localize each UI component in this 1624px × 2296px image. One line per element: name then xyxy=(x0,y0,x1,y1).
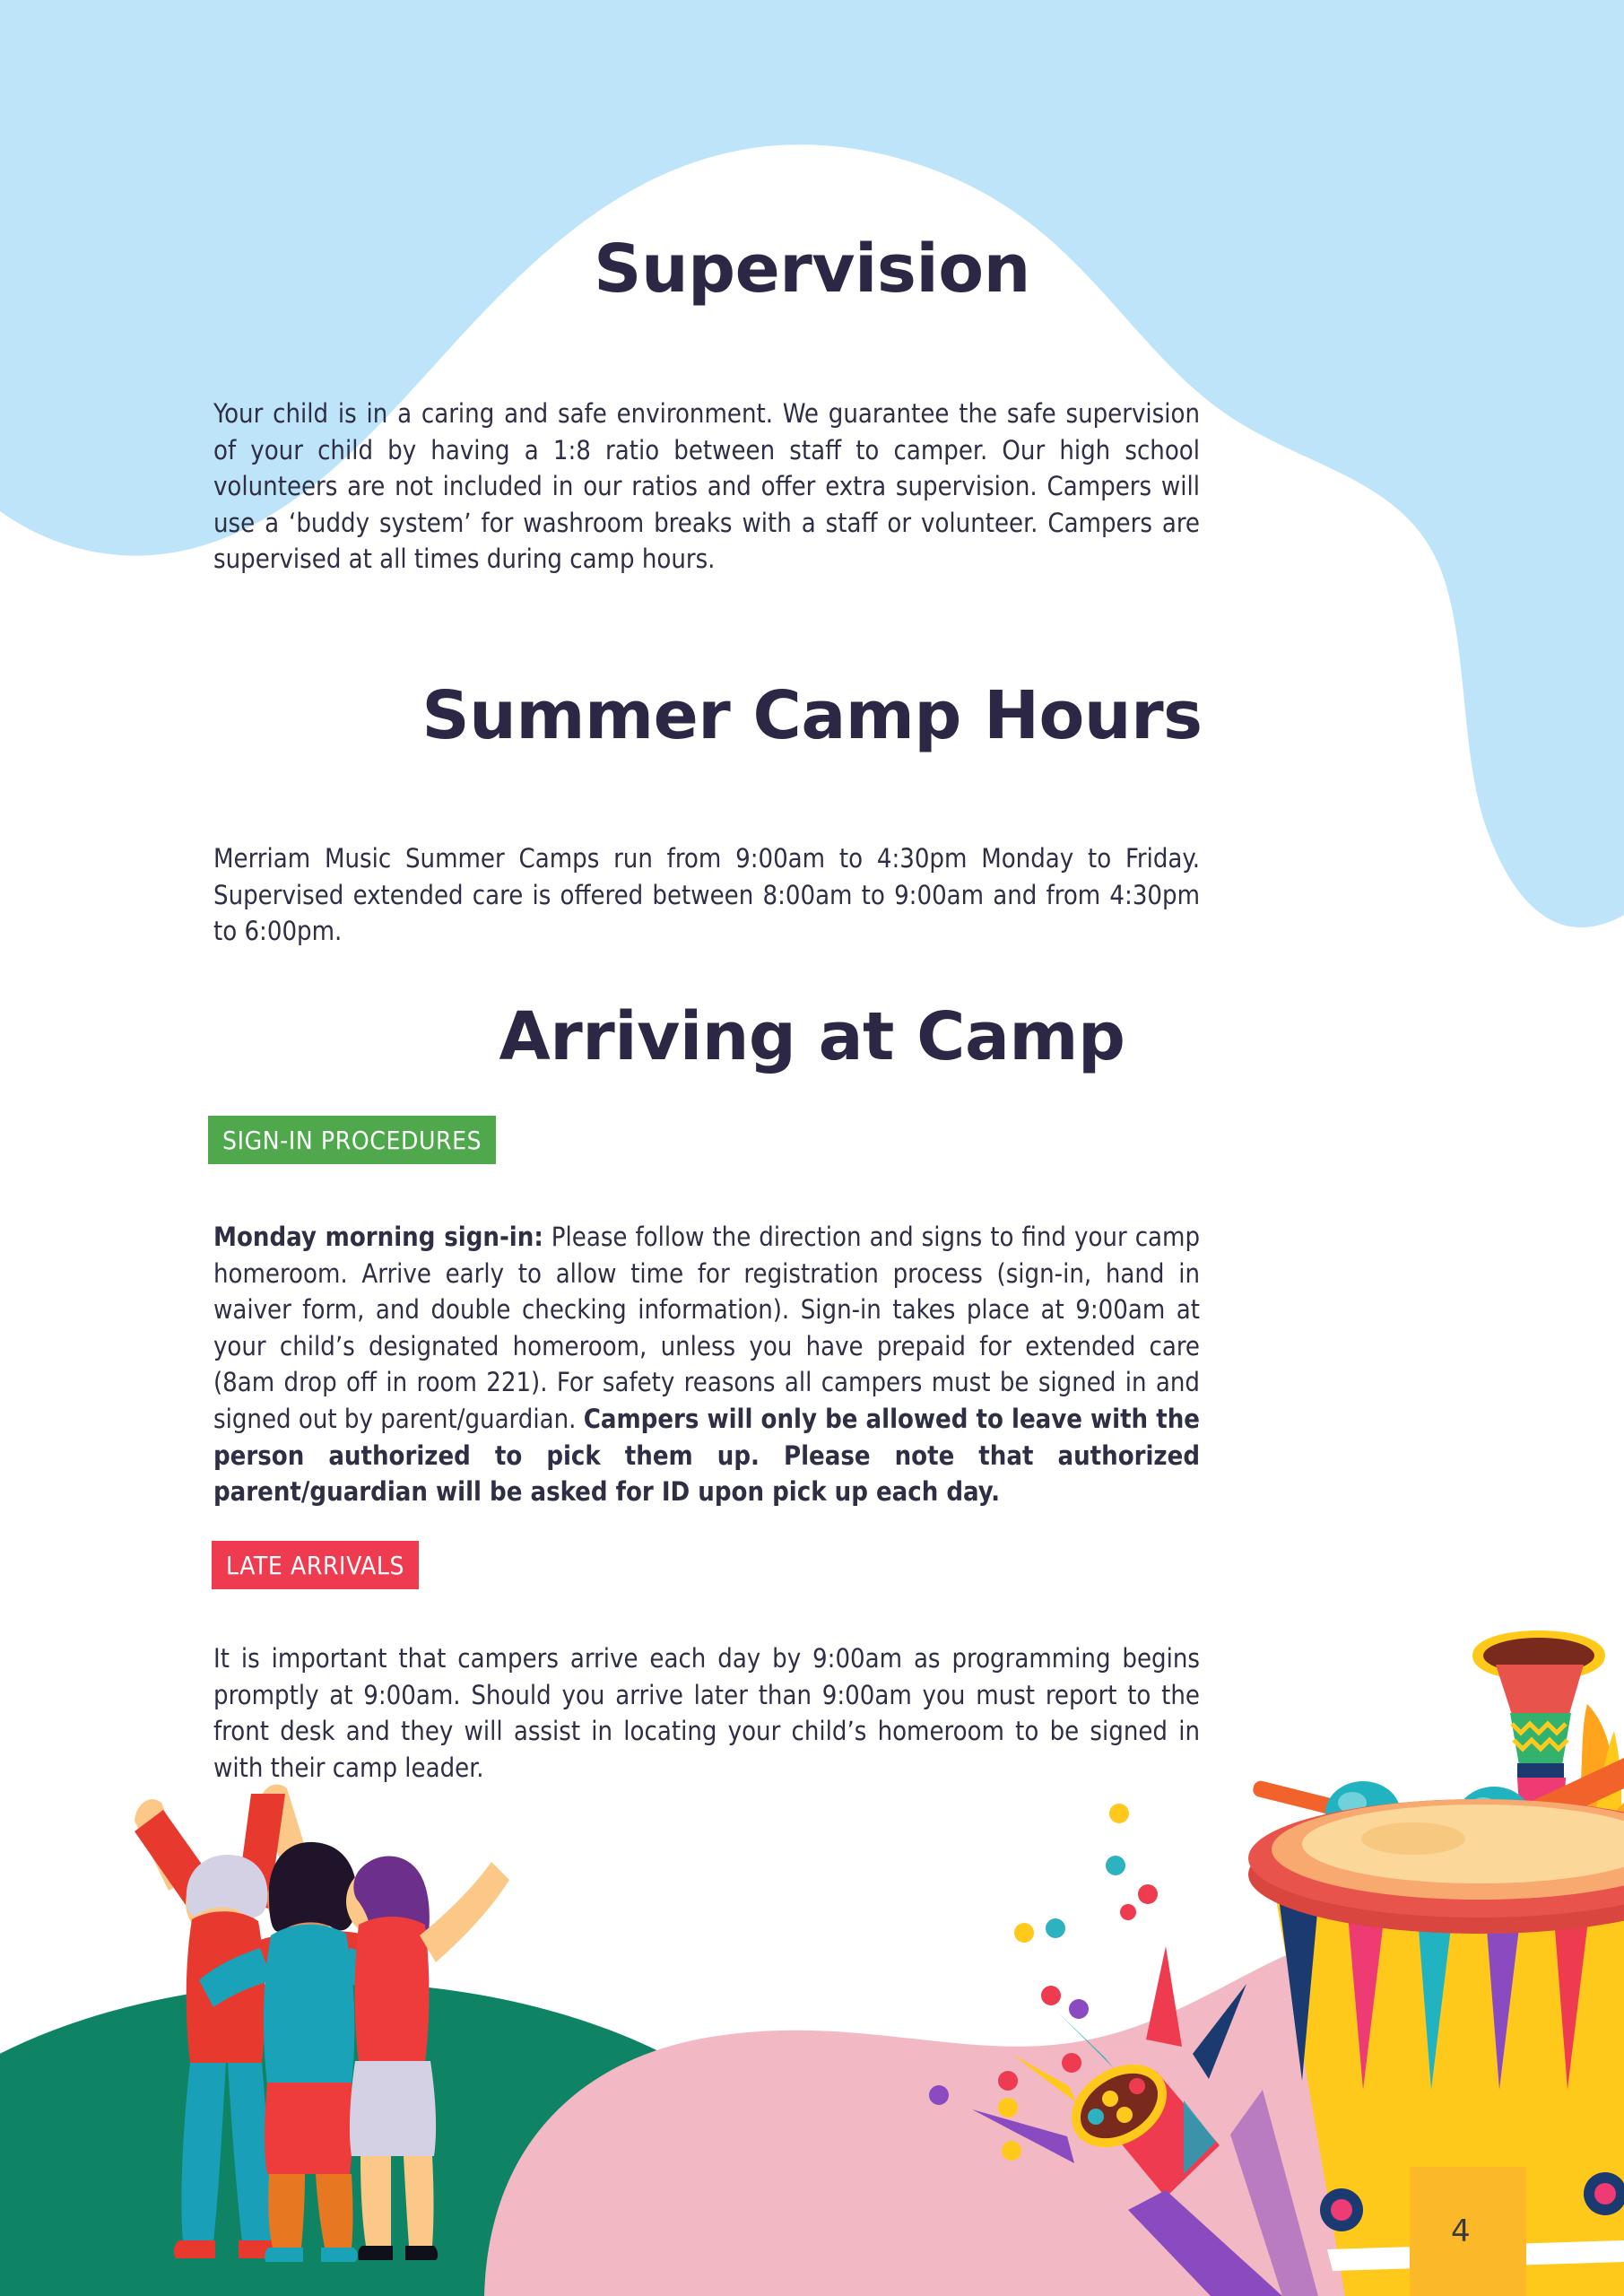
section-title-arriving-at-camp: Arriving at Camp xyxy=(0,1003,1624,1073)
sign-in-lead-bold: Monday morning sign-in: xyxy=(213,1222,543,1252)
section-title-summer-camp-hours: Summer Camp Hours xyxy=(0,682,1624,752)
sign-in-regular-text: Please follow the direction and signs to… xyxy=(213,1222,1200,1434)
document-page: Supervision Your child is in a caring an… xyxy=(0,0,1624,2296)
badge-sign-in-procedures-label: SIGN-IN PROCEDURES xyxy=(222,1126,482,1155)
badge-sign-in-procedures: SIGN-IN PROCEDURES xyxy=(208,1116,496,1164)
late-arrivals-paragraph: It is important that campers arrive each… xyxy=(213,1640,1200,1786)
page-content: Supervision Your child is in a caring an… xyxy=(0,0,1624,2296)
badge-late-arrivals: LATE ARRIVALS xyxy=(212,1541,419,1589)
badge-late-arrivals-label: LATE ARRIVALS xyxy=(226,1551,404,1580)
page-title-supervision: Supervision xyxy=(0,235,1624,305)
supervision-paragraph: Your child is in a caring and safe envir… xyxy=(213,396,1200,578)
summer-camp-hours-paragraph: Merriam Music Summer Camps run from 9:00… xyxy=(213,840,1200,950)
page-number: 4 xyxy=(1451,2213,1471,2249)
sign-in-procedures-paragraph: Monday morning sign-in: Please follow th… xyxy=(213,1219,1200,1510)
